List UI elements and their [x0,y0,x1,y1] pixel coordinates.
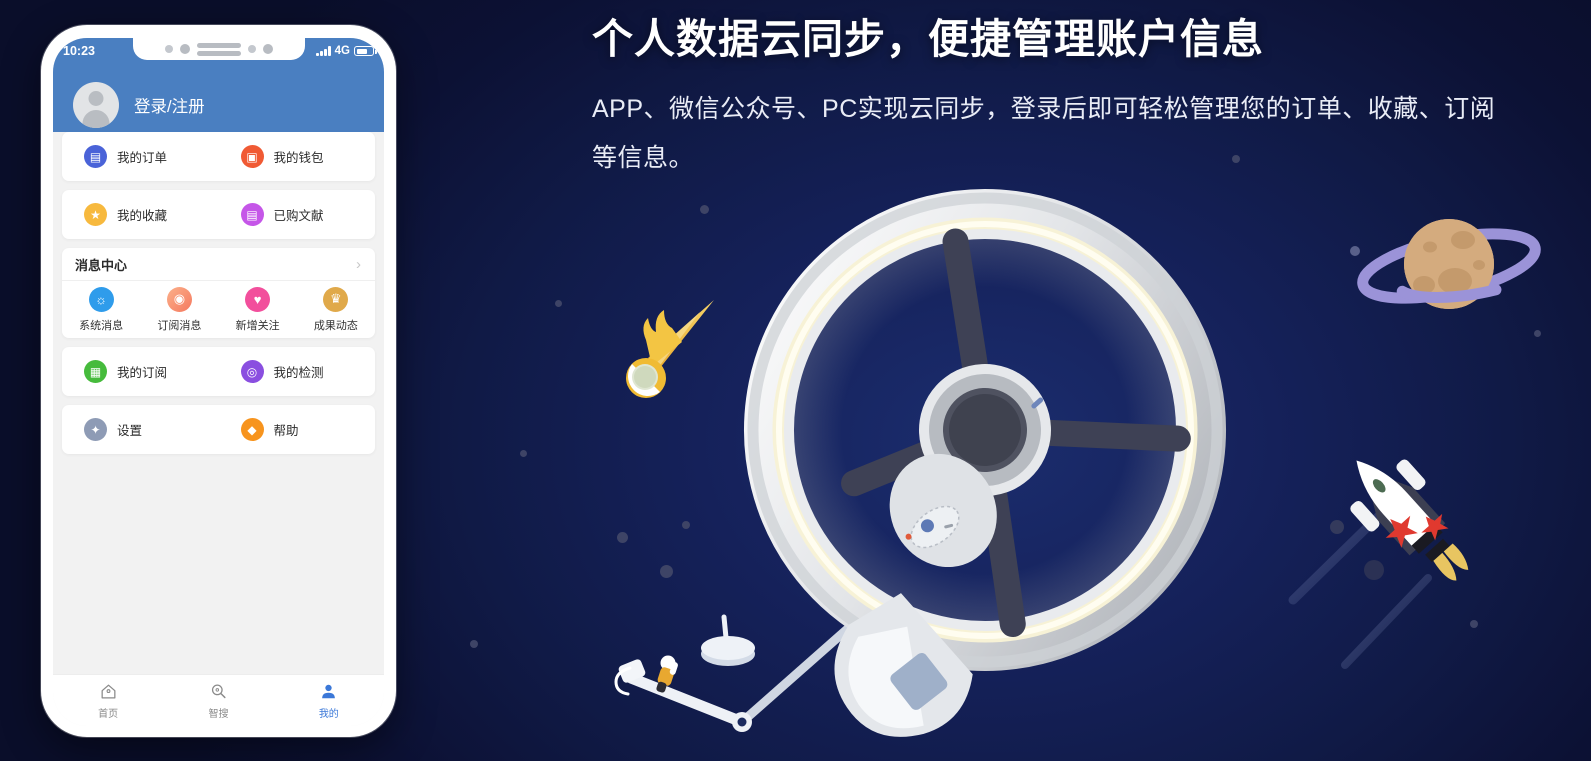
menu-item-label: 设置 [117,420,142,439]
document-icon: ▤ [241,203,264,226]
message-item-label: 系统消息 [79,317,123,333]
notch-speaker-icon [197,43,241,56]
avatar[interactable] [73,82,119,128]
network-label: 4G [335,45,350,57]
notch-dot [248,45,256,53]
menu-item-label: 我的订阅 [117,362,167,381]
bottom-tab-bar: 首页 智搜 我的 [53,674,384,726]
message-item-label: 成果动态 [314,317,358,333]
profile-icon [319,682,338,701]
login-register-link[interactable]: 登录/注册 [134,93,205,117]
star-icon: ★ [84,203,107,226]
notch-dot [263,44,273,54]
menu-item-label: 我的订单 [117,147,167,166]
space-shuttle-icon [1328,435,1489,602]
rss-icon: ◉ [167,287,192,312]
menu-item-my-wallet[interactable]: ▣ 我的钱包 [219,132,376,181]
signal-bars-icon [316,46,331,56]
tab-label: 智搜 [208,705,228,720]
satellite-dish-icon [701,617,755,666]
menu-item-label: 我的收藏 [117,205,167,224]
menu-item-label: 我的钱包 [274,147,324,166]
home-icon [99,682,118,701]
menu-item-label: 已购文献 [274,205,324,224]
chevron-right-icon[interactable]: › [356,256,361,273]
space-station-wheel-icon [696,141,1283,759]
page-title: 个人数据云同步，便捷管理账户信息 [592,14,1542,65]
message-item-new-follow[interactable]: ♥ 新增关注 [219,281,297,338]
message-item-label: 新增关注 [236,317,280,333]
profile-block[interactable]: 登录/注册 [53,64,384,128]
promo-copy: 个人数据云同步，便捷管理账户信息 APP、微信公众号、PC实现云同步，登录后即可… [592,14,1542,183]
comet-icon [626,300,714,398]
ringed-planet-icon [1357,219,1540,311]
menu-card: ▦ 我的订阅 ◎ 我的检测 [62,347,375,396]
trophy-icon: ♛ [323,287,348,312]
menu-item-label: 帮助 [274,420,299,439]
menu-item-purchased-documents[interactable]: ▤ 已购文献 [219,190,376,239]
clipboard-icon: ▤ [84,145,107,168]
message-center-card: 消息中心 › ☼ 系统消息 ◉ 订阅消息 ♥ 新增关注 [62,248,375,338]
calendar-icon: ▦ [84,360,107,383]
heart-plus-icon: ♥ [245,287,270,312]
status-indicators: 4G [316,45,374,57]
message-item-label: 订阅消息 [157,317,201,333]
phone-notch [133,38,305,60]
wallet-icon: ▣ [241,145,264,168]
menu-card: ▤ 我的订单 ▣ 我的钱包 [62,132,375,181]
status-time: 10:23 [63,44,95,58]
search-icon [209,682,228,701]
phone-mockup: 10:23 4G 登录/注册 ▤ 我的订单 [41,25,396,737]
message-center-title: 消息中心 [75,255,127,274]
battery-icon [354,46,374,56]
notch-dot [165,45,173,53]
robotic-arm [618,617,861,732]
gear-icon: ✦ [84,418,107,441]
menu-item-label: 我的检测 [274,362,324,381]
tab-smart-search[interactable]: 智搜 [163,682,273,720]
search-badge-icon: ◎ [241,360,264,383]
message-item-achievements[interactable]: ♛ 成果动态 [297,281,375,338]
tab-label: 首页 [98,705,118,720]
tab-profile[interactable]: 我的 [274,682,384,720]
menu-item-my-favorites[interactable]: ★ 我的收藏 [62,190,219,239]
bell-icon: ☼ [89,287,114,312]
message-item-system[interactable]: ☼ 系统消息 [62,281,140,338]
menu-item-my-orders[interactable]: ▤ 我的订单 [62,132,219,181]
help-diamond-icon: ◆ [241,418,264,441]
menu-card: ✦ 设置 ◆ 帮助 [62,405,375,454]
tab-home[interactable]: 首页 [53,682,163,720]
menu-card: ★ 我的收藏 ▤ 已购文献 [62,190,375,239]
menu-item-help[interactable]: ◆ 帮助 [219,405,376,454]
menu-item-my-detection[interactable]: ◎ 我的检测 [219,347,376,396]
phone-screen: 10:23 4G 登录/注册 ▤ 我的订单 [53,38,384,726]
message-center-header[interactable]: 消息中心 › [62,248,375,281]
menu-item-my-subscriptions[interactable]: ▦ 我的订阅 [62,347,219,396]
menu-item-settings[interactable]: ✦ 设置 [62,405,219,454]
message-item-subscription[interactable]: ◉ 订阅消息 [140,281,218,338]
tab-label: 我的 [319,705,339,720]
phone-content: ▤ 我的订单 ▣ 我的钱包 ★ 我的收藏 ▤ [53,132,384,674]
promo-description: APP、微信公众号、PC实现云同步，登录后即可轻松管理您的订单、收藏、订阅等信息… [592,85,1497,183]
notch-dot [180,44,190,54]
